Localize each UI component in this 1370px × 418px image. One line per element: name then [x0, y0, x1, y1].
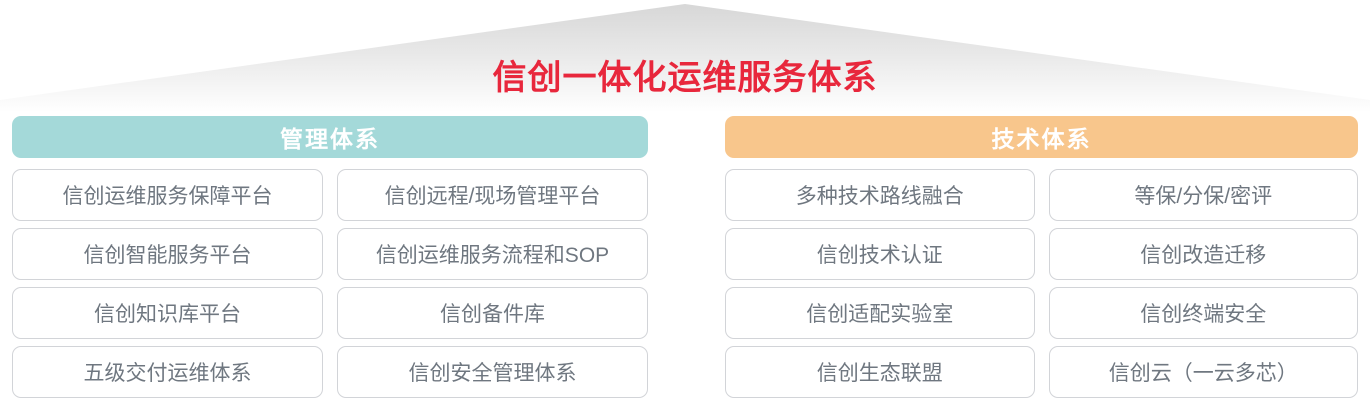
item-cell[interactable]: 等保/分保/密评	[1049, 169, 1359, 221]
item-cell[interactable]: 信创改造迁移	[1049, 228, 1359, 280]
banner: 信创一体化运维服务体系	[0, 0, 1370, 112]
item-cell[interactable]: 信创技术认证	[725, 228, 1035, 280]
item-cell[interactable]: 多种技术路线融合	[725, 169, 1035, 221]
item-cell[interactable]: 信创云（一云多芯）	[1049, 346, 1359, 398]
item-cell[interactable]: 信创智能服务平台	[12, 228, 323, 280]
panel-header-technology: 技术体系	[725, 116, 1358, 158]
item-cell[interactable]: 信创备件库	[337, 287, 648, 339]
panel-header-management-label: 管理体系	[280, 120, 380, 154]
item-cell[interactable]: 信创运维服务保障平台	[12, 169, 323, 221]
item-cell[interactable]: 信创生态联盟	[725, 346, 1035, 398]
item-cell[interactable]: 信创知识库平台	[12, 287, 323, 339]
item-cell[interactable]: 信创安全管理体系	[337, 346, 648, 398]
panel-technology-grid: 多种技术路线融合 等保/分保/密评 信创技术认证 信创改造迁移 信创适配实验室 …	[725, 169, 1358, 398]
item-cell[interactable]: 信创远程/现场管理平台	[337, 169, 648, 221]
panel-header-technology-label: 技术体系	[992, 120, 1092, 154]
panel-management-grid: 信创运维服务保障平台 信创远程/现场管理平台 信创智能服务平台 信创运维服务流程…	[12, 169, 648, 398]
item-cell[interactable]: 信创终端安全	[1049, 287, 1359, 339]
panels-container: 管理体系 信创运维服务保障平台 信创远程/现场管理平台 信创智能服务平台 信创运…	[0, 116, 1370, 418]
item-cell[interactable]: 信创适配实验室	[725, 287, 1035, 339]
panel-header-management: 管理体系	[12, 116, 648, 158]
item-cell[interactable]: 五级交付运维体系	[12, 346, 323, 398]
item-cell[interactable]: 信创运维服务流程和SOP	[337, 228, 648, 280]
page-title: 信创一体化运维服务体系	[0, 56, 1370, 100]
panel-technology: 技术体系 多种技术路线融合 等保/分保/密评 信创技术认证 信创改造迁移 信创适…	[725, 116, 1358, 398]
panel-management: 管理体系 信创运维服务保障平台 信创远程/现场管理平台 信创智能服务平台 信创运…	[12, 116, 648, 398]
